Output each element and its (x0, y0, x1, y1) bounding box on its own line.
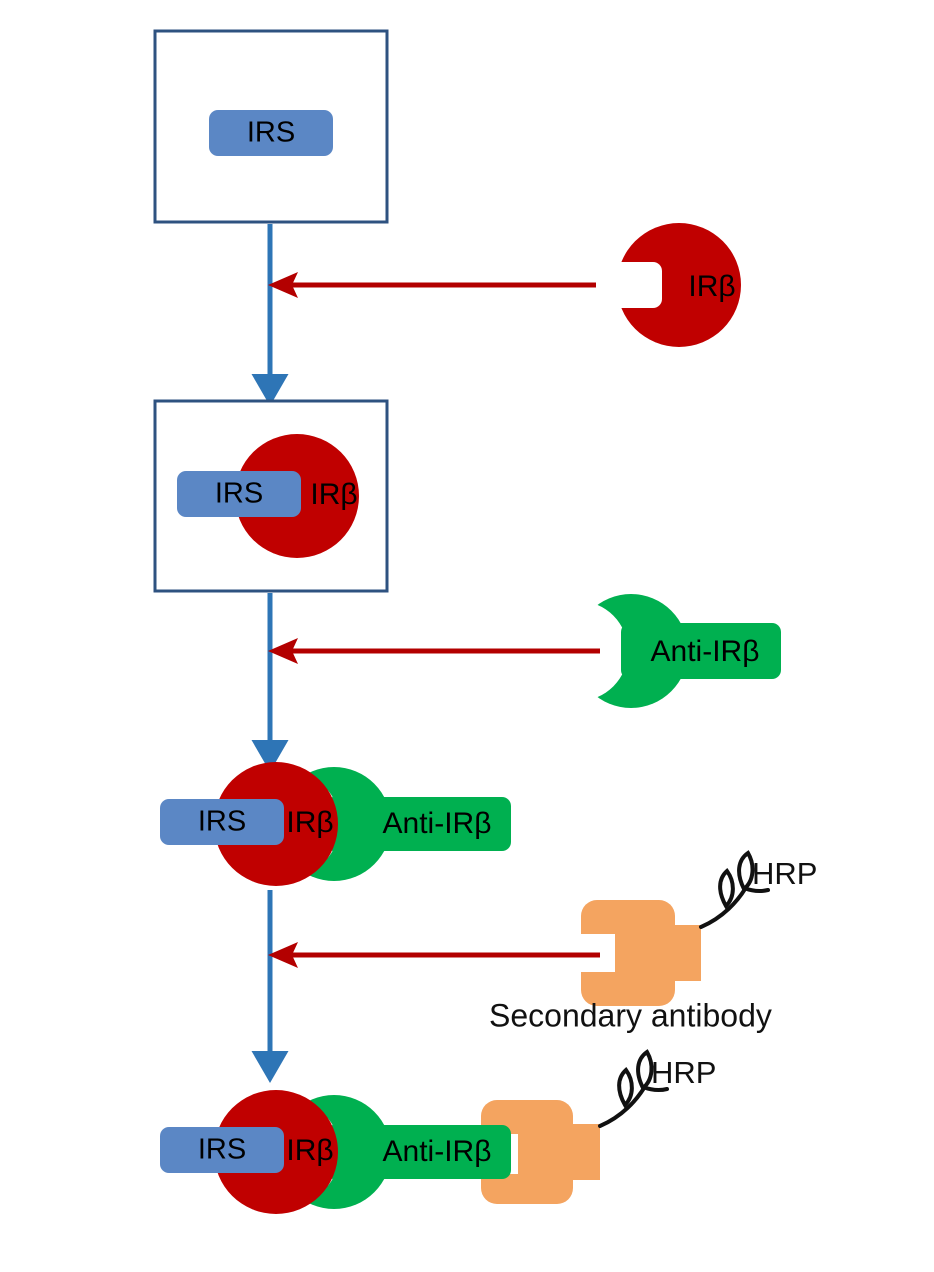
anti-irbeta-label-4: Anti-IRβ (383, 1135, 492, 1168)
diagram-canvas: IRS IRβ IRS IRβ (0, 0, 934, 1272)
step-1-well: IRS (155, 31, 387, 222)
reagent-anti-irbeta: Anti-IRβ (574, 594, 781, 708)
step-4-complex: IRS IRβ Anti-IRβ HRP (160, 1052, 716, 1214)
step-2-well: IRS IRβ (155, 401, 387, 591)
irbeta-label-3: IRβ (286, 806, 333, 839)
secondary-antibody-stub-4 (554, 1124, 600, 1180)
secondary-antibody-label: Secondary antibody (489, 997, 772, 1033)
step-3-complex: IRS IRβ Anti-IRβ (160, 762, 511, 886)
reagent-arrow-2 (268, 638, 600, 664)
reagent-arrow-1 (268, 272, 596, 298)
anti-irbeta-label-standalone: Anti-IRβ (651, 635, 760, 668)
irbeta-label-2: IRβ (310, 478, 357, 511)
elisa-workflow-diagram: IRS IRβ IRS IRβ (0, 0, 934, 1272)
irbeta-label-4: IRβ (286, 1134, 333, 1167)
reagent-arrow-3 (268, 942, 600, 968)
hrp-label-standalone: HRP (752, 856, 817, 891)
anti-irbeta-label-3: Anti-IRβ (383, 807, 492, 840)
irs-label-3: IRS (198, 806, 246, 838)
irs-label-4: IRS (198, 1134, 246, 1166)
reagent-secondary-antibody: HRP Secondary antibody (489, 853, 817, 1033)
secondary-antibody-stub-standalone (655, 925, 701, 981)
irs-label-2: IRS (215, 478, 263, 510)
hrp-label-4: HRP (651, 1055, 716, 1090)
irs-label-1: IRS (247, 117, 295, 149)
reagent-irbeta: IRβ (617, 223, 741, 347)
irbeta-label-standalone: IRβ (688, 270, 735, 303)
